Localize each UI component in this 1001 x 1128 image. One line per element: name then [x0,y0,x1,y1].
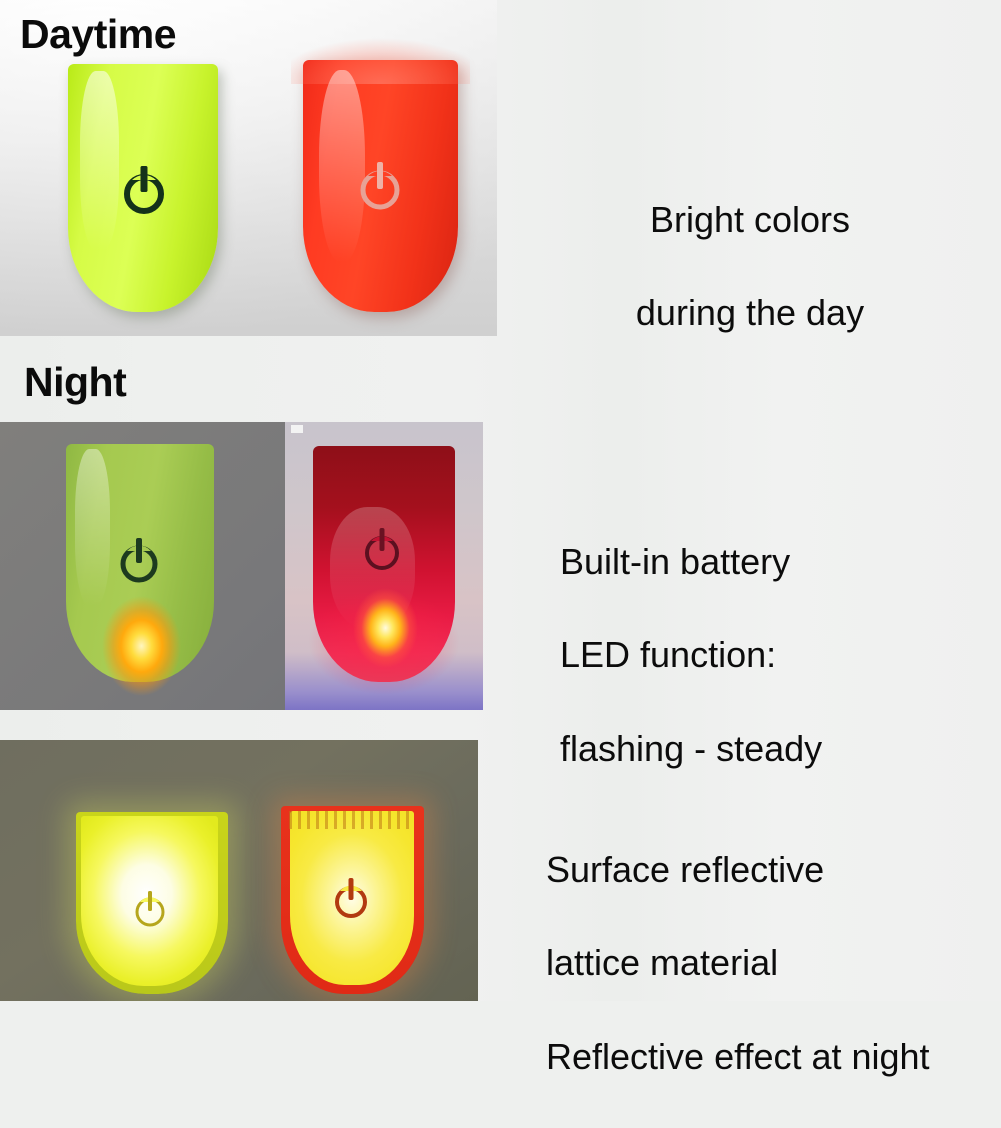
callout-line: flashing - steady [560,726,960,773]
callout-line: lattice material [546,940,996,987]
night-photo-panel [0,422,483,710]
infographic-canvas: Daytime Night Bright colors during the d… [0,0,1001,1001]
photo-artifact [291,425,303,433]
callout-line: Reflective effect at night [546,1034,996,1081]
power-icon [327,872,375,922]
power-icon [128,884,172,930]
callout-daytime: Bright colors during the day [552,150,948,384]
power-icon [358,522,406,572]
section-label-night: Night [24,362,126,403]
reflective-green-clip-light [76,812,228,994]
callout-night: Built-in battery LED function: flashing … [560,492,960,820]
reflective-red-clip-light [281,806,424,994]
callout-line: Surface reflective [546,847,996,894]
callout-reflective: Surface reflective lattice material Refl… [546,800,996,1128]
daytime-green-clip-light [68,64,218,312]
gloss-highlight [80,71,119,250]
led-glow [102,596,182,696]
led-glow [353,588,418,668]
rim-glow [291,38,471,84]
power-icon [354,156,406,212]
night-green-clip-light [66,444,214,682]
night-red-inset-photo [285,422,483,710]
callout-line: during the day [552,290,948,337]
section-label-daytime: Daytime [20,14,176,55]
night-red-clip-light [313,446,455,682]
power-icon [118,162,170,216]
daytime-red-clip-light [303,60,458,312]
gloss-highlight [75,449,111,606]
callout-line: Bright colors [552,197,948,244]
callout-line: Built-in battery [560,539,960,586]
reflective-photo-panel [0,740,478,1001]
lattice-texture [289,811,414,829]
power-icon [114,532,164,584]
callout-line: LED function: [560,632,960,679]
